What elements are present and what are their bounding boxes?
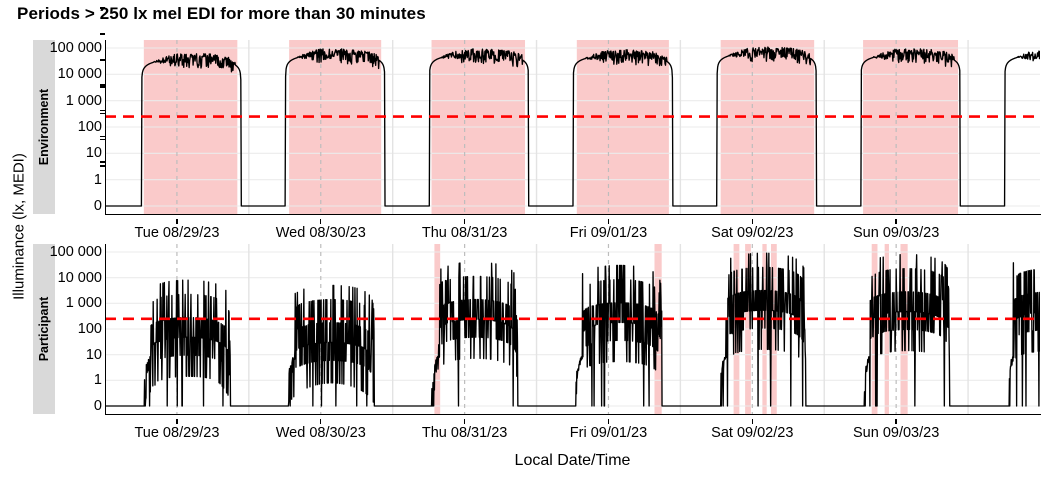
x-axis-tick-mark — [895, 419, 896, 424]
x-axis-tick-label: Thu 08/31/23 — [422, 425, 507, 441]
x-axis-ticks-participant: Tue 08/29/23Wed 08/30/23Thu 08/31/23Fri … — [0, 419, 1056, 441]
y-axis-tick-label: 100 — [78, 321, 102, 337]
x-axis-tick-label: Tue 08/29/23 — [134, 225, 219, 241]
y-axis-tick-mark — [100, 86, 105, 87]
x-axis-ticks-environment: Tue 08/29/23Wed 08/30/23Thu 08/31/23Fri … — [0, 219, 1056, 241]
x-axis-tick-label: Sun 09/03/23 — [853, 225, 939, 241]
y-axis-tick-label: 1 — [94, 172, 102, 188]
y-axis-tick-label: 100 000 — [50, 40, 102, 56]
x-axis-tick-mark — [464, 419, 465, 424]
x-axis-tick-mark — [608, 219, 609, 224]
y-axis-tick-mark — [100, 139, 105, 140]
x-axis-tick-label: Fri 09/01/23 — [570, 225, 647, 241]
y-axis-tick-label: 10 000 — [58, 270, 102, 286]
x-axis-tick-mark — [320, 219, 321, 224]
y-axis-tick-mark — [100, 165, 105, 166]
y-axis-tick-mark — [100, 113, 105, 114]
y-axis-tick-label: 1 000 — [66, 93, 102, 109]
y-axis-tick-label: 1 000 — [66, 295, 102, 311]
x-axis-tick-mark — [464, 219, 465, 224]
y-axis-tick-label: 10 — [86, 347, 102, 363]
x-axis-tick-label: Wed 08/30/23 — [276, 225, 366, 241]
y-axis-tick-label: 1 — [94, 372, 102, 388]
page-title: Periods > 250 lx mel EDI for more than 3… — [17, 4, 426, 24]
y-axis-ticks-participant: 100 00010 0001 0001001010 — [36, 244, 102, 414]
x-axis-tick-mark — [895, 219, 896, 224]
x-axis-tick-mark — [320, 419, 321, 424]
chart-root: Periods > 250 lx mel EDI for more than 3… — [0, 0, 1056, 480]
y-axis-tick-label: 0 — [94, 398, 102, 414]
y-axis-tick-mark — [100, 110, 105, 111]
y-axis-tick-mark — [100, 33, 105, 34]
plot-area-environment — [105, 40, 1040, 214]
x-axis-tick-mark — [752, 419, 753, 424]
x-axis-tick-label: Fri 09/01/23 — [570, 425, 647, 441]
x-axis-tick-label: Sat 09/02/23 — [711, 425, 793, 441]
x-axis-tick-mark — [752, 219, 753, 224]
x-axis-tick-label: Tue 08/29/23 — [134, 425, 219, 441]
x-axis-tick-label: Thu 08/31/23 — [422, 225, 507, 241]
panel-environment — [105, 40, 1040, 214]
y-axis-tick-mark — [100, 7, 105, 8]
y-axis-tick-label: 0 — [94, 198, 102, 214]
y-axis-tick-label: 10 000 — [58, 66, 102, 82]
x-axis-tick-mark — [176, 419, 177, 424]
y-axis-tick-mark — [100, 136, 105, 137]
plot-area-participant — [105, 244, 1040, 414]
x-axis-tick-label: Sat 09/02/23 — [711, 225, 793, 241]
y-axis-tick-mark — [100, 59, 105, 60]
y-axis-ticks-environment: 100 00010 0001 0001001010 — [36, 40, 102, 214]
y-axis-tick-label: 10 — [86, 145, 102, 161]
panel-participant — [105, 244, 1040, 414]
x-axis-title: Local Date/Time — [105, 452, 1040, 470]
y-axis-tick-label: 100 000 — [50, 244, 102, 260]
x-axis-tick-mark — [176, 219, 177, 224]
y-axis-tick-mark — [100, 84, 105, 85]
x-axis-tick-label: Wed 08/30/23 — [276, 425, 366, 441]
y-axis-tick-mark — [100, 60, 105, 61]
x-axis-tick-label: Sun 09/03/23 — [853, 425, 939, 441]
x-axis-tick-mark — [608, 419, 609, 424]
y-axis-tick-label: 100 — [78, 119, 102, 135]
y-axis-tick-mark — [100, 161, 105, 162]
